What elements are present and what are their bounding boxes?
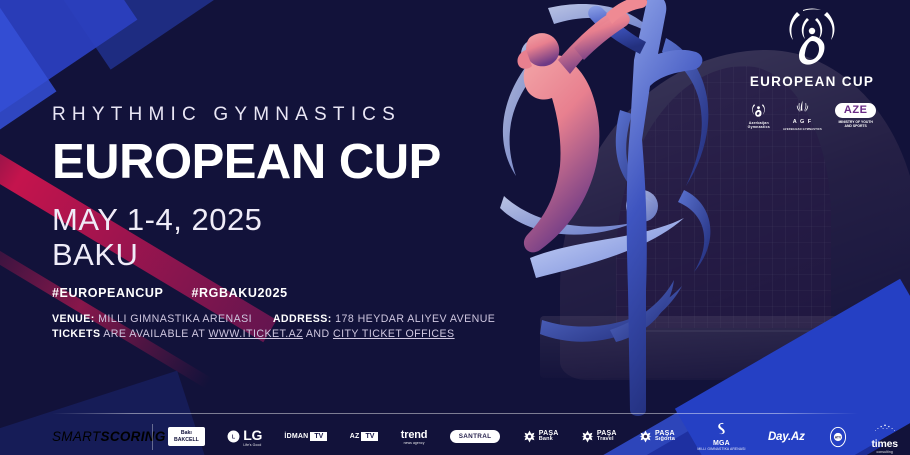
sponsor-bakcell: Bakı BAKCELL <box>168 427 205 445</box>
lg-wordmark: LG <box>243 427 262 443</box>
sponsor-pasha-travel: PAŞA Travel <box>581 430 617 443</box>
sponsor-bar: SMARTSCORING Bakı BAKCELL L LG Life's Go… <box>0 418 910 455</box>
aztv-wordmark: AZ <box>350 433 360 440</box>
times-wordmark: times <box>871 438 897 450</box>
event-details: VENUE: MILLI GIMNASTIKA ARENASI ADDRESS:… <box>52 312 495 343</box>
partner-logo-aze: AZE MINISTRY OF YOUTH AND SPORTS <box>835 103 877 129</box>
pasha-star-icon <box>639 430 652 443</box>
event-banner: RHYTHMIC GYMNASTICS EUROPEAN CUP MAY 1-4… <box>0 0 910 455</box>
ticket-website-link[interactable]: WWW.ITICKET.AZ <box>208 328 303 340</box>
venue-line: VENUE: MILLI GIMNASTIKA ARENASI ADDRESS:… <box>52 312 495 327</box>
pasha-star-icon <box>523 430 536 443</box>
sponsor-pasha-sigorta: PAŞA Sığorta <box>639 430 675 443</box>
atv-circle-icon: ATV <box>827 426 849 448</box>
aztv-tv-tag: TV <box>361 432 378 441</box>
hashtag-secondary: #RGBAKU2025 <box>191 286 287 300</box>
pasha-travel-line2: Travel <box>597 437 617 443</box>
mga-swirl-icon <box>714 422 729 435</box>
sponsor-lg: L LG Life's Good <box>227 427 262 447</box>
agf-wordmark: A G F <box>783 119 822 126</box>
lg-circle-icon: L <box>227 430 240 443</box>
idman-wordmark: İDMAN <box>284 433 308 440</box>
sponsor-separator <box>152 424 153 450</box>
agf-flame-icon <box>794 100 811 117</box>
smartscoring-light: SMART <box>52 429 101 444</box>
pasha-sigorta-line2: Sığorta <box>655 437 675 443</box>
partner-caption-line2: Gymnastics <box>748 125 770 129</box>
svg-text:ATV: ATV <box>835 435 842 439</box>
partner-logo-agf: A G F AZERBAIJAN GYMNASTICS <box>783 100 822 131</box>
emblem-title: EUROPEAN CUP <box>732 74 892 89</box>
tickets-mid: ARE AVAILABLE AT <box>100 328 208 340</box>
gymnastics-federation-icon <box>750 102 767 119</box>
venue-label: VENUE: <box>52 313 95 325</box>
sponsor-divider <box>52 413 858 414</box>
event-copy: RHYTHMIC GYMNASTICS EUROPEAN CUP MAY 1-4… <box>52 104 472 272</box>
aze-wordmark: AZE <box>835 103 877 118</box>
event-discipline: RHYTHMIC GYMNASTICS <box>52 104 472 126</box>
gymnast-illustration <box>470 0 770 420</box>
sponsor-santral: SANTRAL <box>450 430 501 443</box>
tickets-and: AND <box>303 328 333 340</box>
pasha-bank-line2: Bank <box>539 437 559 443</box>
mga-caption: MILLI GIMNASTIKA ARENASI <box>697 447 745 451</box>
sponsor-atv: ATV <box>827 426 849 448</box>
address-label: ADDRESS: <box>273 313 332 325</box>
event-title: EUROPEAN CUP <box>52 138 472 187</box>
tickets-line: TICKETS ARE AVAILABLE AT WWW.ITICKET.AZ … <box>52 327 495 342</box>
smartscoring-bold: SCORING <box>101 429 166 444</box>
bakcell-line2: BAKCELL <box>174 437 199 443</box>
sponsor-mga: MGA MILLI GIMNASTIKA ARENASI <box>697 422 745 451</box>
european-cup-emblem-icon <box>781 6 843 68</box>
santral-wordmark: SANTRAL <box>450 430 501 443</box>
emblem-cluster: EUROPEAN CUP Azerbaijan Gymnastics <box>732 6 892 131</box>
ticket-offices-link[interactable]: CITY TICKET OFFICES <box>333 328 455 340</box>
agf-caption: AZERBAIJAN GYMNASTICS <box>783 128 822 131</box>
sponsor-list: Bakı BAKCELL L LG Life's Good İDMAN TV <box>168 420 898 454</box>
event-dates: MAY 1-4, 2025 <box>52 203 472 238</box>
pasha-star-icon <box>581 430 594 443</box>
address-value: 178 HEYDAR ALIYEV AVENUE <box>335 313 495 325</box>
tickets-label: TICKETS <box>52 328 100 340</box>
times-caption: consulting <box>871 450 897 454</box>
aze-caption-line2: AND SPORTS <box>835 124 877 128</box>
mga-wordmark: MGA <box>697 440 745 447</box>
sponsor-trend: trend news agency <box>401 429 428 445</box>
hashtag-primary: #EUROPEANCUP <box>52 286 163 300</box>
lg-slogan: Life's Good <box>243 443 262 447</box>
venue-value: MILLI GIMNASTIKA ARENASI <box>98 313 252 325</box>
hashtag-row: #EUROPEANCUP #RGBAKU2025 <box>52 286 312 300</box>
sponsor-day-az: Day.Az <box>768 431 805 443</box>
idman-tv-tag: TV <box>310 432 327 441</box>
event-city: BAKU <box>52 238 472 273</box>
sponsor-az-tv: AZ TV <box>350 432 379 441</box>
sponsor-times: times consulting <box>871 420 897 454</box>
sponsor-pasha-bank: PAŞA Bank <box>523 430 559 443</box>
dayaz-wordmark: Day.Az <box>768 431 805 443</box>
trend-caption: news agency <box>401 441 428 445</box>
partner-logos: Azerbaijan Gymnastics A G F AZERBAIJAN G… <box>732 100 892 131</box>
trend-wordmark: trend <box>401 429 428 441</box>
sponsor-smartscoring: SMARTSCORING <box>52 429 166 444</box>
sponsor-idman-tv: İDMAN TV <box>284 432 327 441</box>
partner-logo-azerbaijan-gymnastics: Azerbaijan Gymnastics <box>748 102 770 130</box>
times-sparkle-icon <box>872 424 898 433</box>
